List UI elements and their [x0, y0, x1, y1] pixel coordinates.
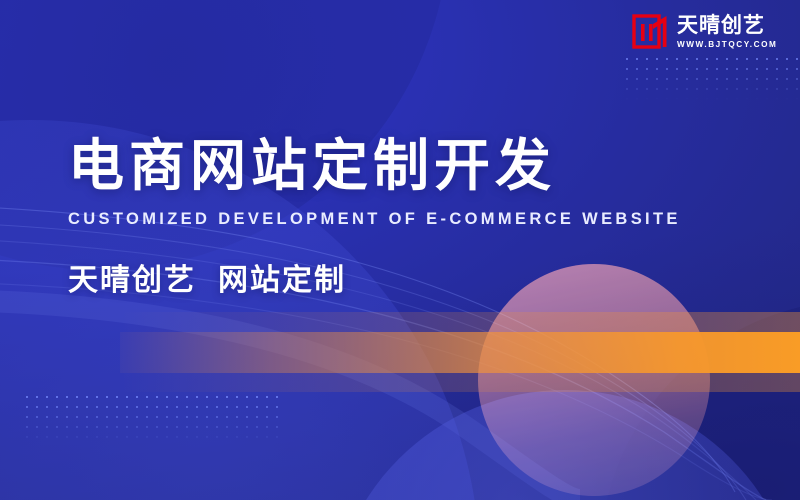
logo-name: 天晴创艺: [677, 15, 777, 36]
promotional-banner: 天晴创艺 WWW.BJTQCY.COM 电商网站定制开发 CUSTOMIZED …: [0, 0, 800, 500]
orange-highlight-bar: [120, 332, 800, 373]
tianqing-square-mark-icon: [632, 14, 670, 50]
dot-grid-pattern-top-right: [622, 54, 800, 100]
logo-text-block: 天晴创艺 WWW.BJTQCY.COM: [677, 15, 777, 49]
page-title: 电商网站定制开发: [68, 136, 681, 195]
tagline: 天晴创艺网站定制: [68, 266, 681, 296]
tagline-left: 天晴创艺: [68, 264, 196, 297]
page-subtitle: CUSTOMIZED DEVELOPMENT OF E-COMMERCE WEB…: [68, 211, 681, 228]
content-block: 电商网站定制开发 CUSTOMIZED DEVELOPMENT OF E-COM…: [68, 136, 681, 296]
logo-url: WWW.BJTQCY.COM: [677, 41, 777, 49]
dot-grid-pattern-bottom-left: [22, 392, 282, 444]
orange-bar-soft-bottom: [120, 373, 800, 392]
tagline-right: 网站定制: [218, 264, 346, 297]
orange-bar-soft-top: [120, 312, 800, 332]
brand-logo[interactable]: 天晴创艺 WWW.BJTQCY.COM: [632, 14, 777, 50]
